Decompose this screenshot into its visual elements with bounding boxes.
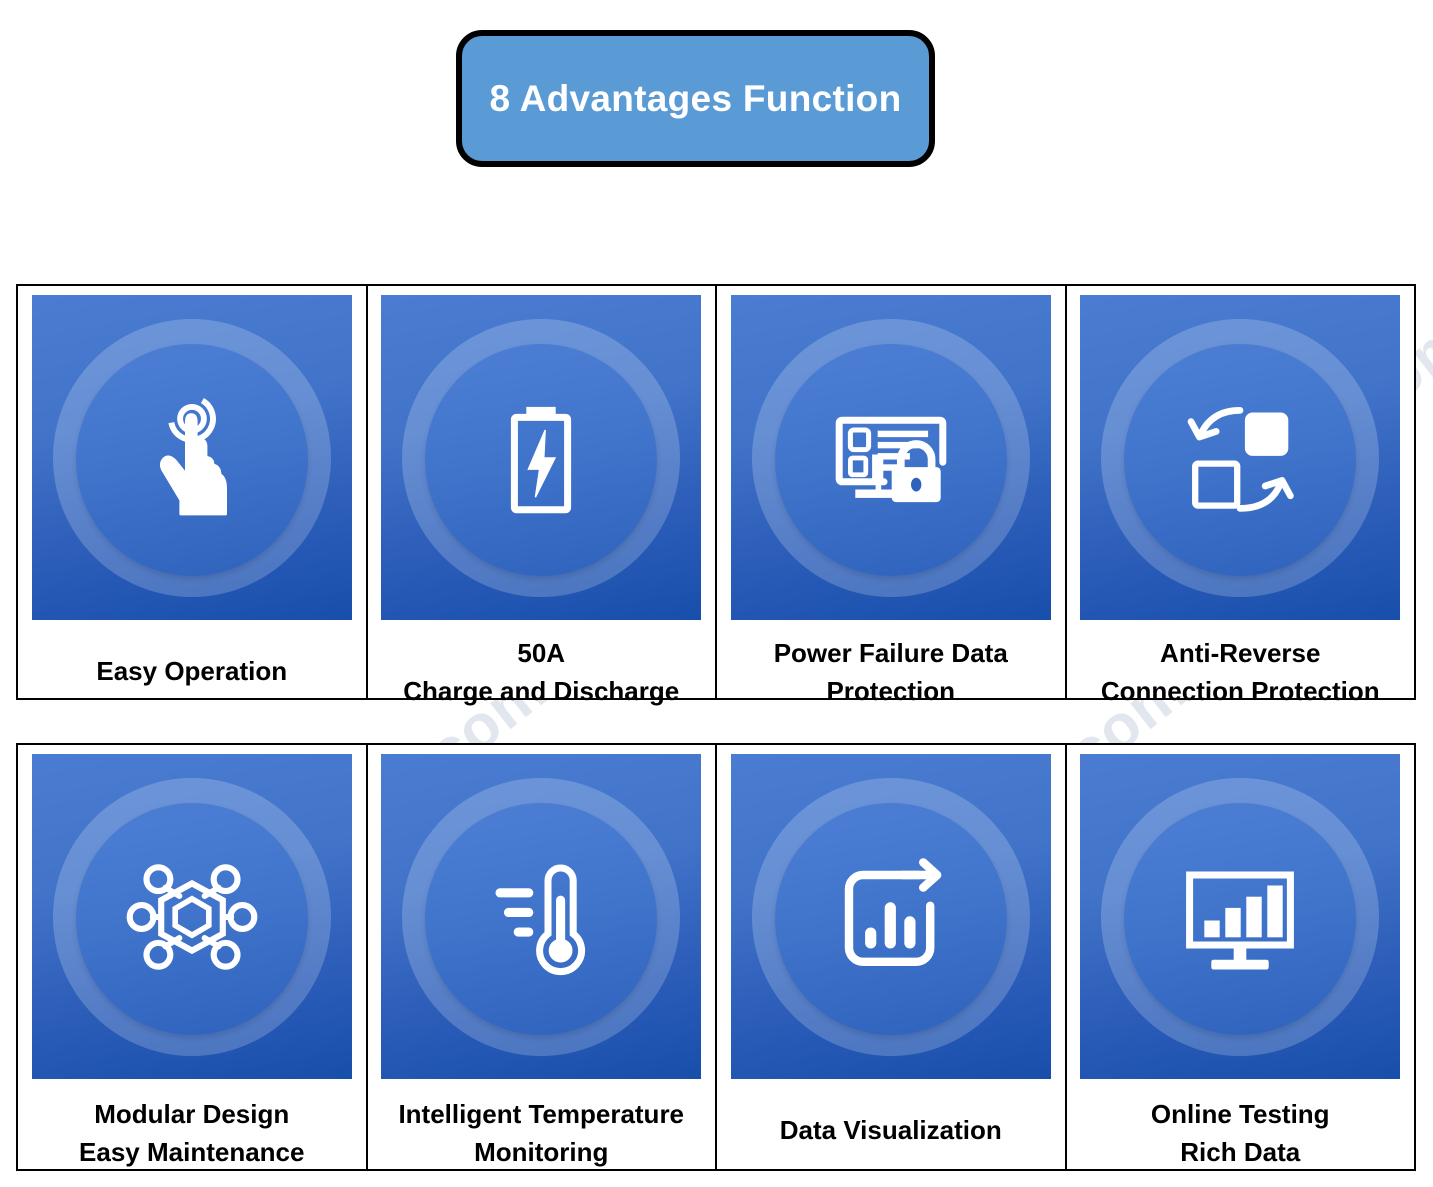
- advantages-grid-row-1: Easy Operation 50A Charge and Discharge: [16, 284, 1416, 700]
- advantages-grid-row-2: Modular Design Easy Maintenance Intellig…: [16, 743, 1416, 1171]
- tile-image: [1080, 754, 1400, 1079]
- page-title-banner: 8 Advantages Function: [456, 30, 935, 167]
- hexagon-network-icon: [122, 847, 262, 987]
- tile-image: [1080, 295, 1400, 620]
- advantage-tile-anti-reverse[interactable]: Anti-Reverse Connection Protection: [1067, 286, 1415, 698]
- advantage-tile-easy-operation[interactable]: Easy Operation: [18, 286, 368, 698]
- page-title: 8 Advantages Function: [490, 78, 902, 120]
- tile-label: 50A Charge and Discharge: [397, 634, 685, 711]
- tile-label: Intelligent Temperature Monitoring: [392, 1095, 690, 1172]
- bar-chart-arrow-icon: [821, 847, 961, 987]
- tile-label: Modular Design Easy Maintenance: [73, 1095, 310, 1172]
- monitor-chart-icon: [1170, 847, 1310, 987]
- thermometer-icon: [471, 847, 611, 987]
- touch-hand-icon: [122, 388, 262, 528]
- tile-label: Anti-Reverse Connection Protection: [1095, 634, 1386, 711]
- advantage-tile-data-visualization[interactable]: Data Visualization: [717, 745, 1067, 1169]
- advantage-tile-power-failure-protection[interactable]: Power Failure Data Protection: [717, 286, 1067, 698]
- tile-image: [731, 295, 1051, 620]
- reverse-swap-icon: [1170, 388, 1310, 528]
- battery-charge-icon: [471, 388, 611, 528]
- screen-lock-icon: [821, 388, 961, 528]
- advantage-tile-temperature-monitoring[interactable]: Intelligent Temperature Monitoring: [368, 745, 718, 1169]
- advantage-tile-online-testing[interactable]: Online Testing Rich Data: [1067, 745, 1415, 1169]
- advantage-tile-modular-design[interactable]: Modular Design Easy Maintenance: [18, 745, 368, 1169]
- tile-label: Online Testing Rich Data: [1145, 1095, 1336, 1172]
- advantage-tile-charge-discharge[interactable]: 50A Charge and Discharge: [368, 286, 718, 698]
- tile-image: [381, 295, 701, 620]
- tile-image: [731, 754, 1051, 1079]
- tile-image: [32, 754, 352, 1079]
- tile-label: Data Visualization: [774, 1111, 1008, 1149]
- tile-label: Easy Operation: [90, 652, 293, 690]
- tile-image: [32, 295, 352, 620]
- tile-image: [381, 754, 701, 1079]
- tile-label: Power Failure Data Protection: [768, 634, 1014, 711]
